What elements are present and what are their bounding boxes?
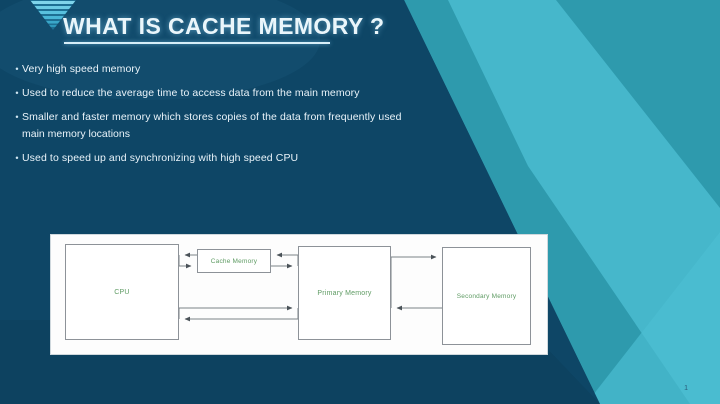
diagram-node-cache-memory: Cache Memory bbox=[197, 249, 271, 273]
slide-title: WHAT IS CACHE MEMORY ? bbox=[63, 13, 384, 40]
bullet-marker-icon: • bbox=[12, 110, 22, 125]
list-item: • Smaller and faster memory which stores… bbox=[12, 110, 512, 125]
presentation-slide: WHAT IS CACHE MEMORY ? • Very high speed… bbox=[0, 0, 720, 404]
bullet-text: Very high speed memory bbox=[22, 62, 140, 77]
bullet-list: • Very high speed memory • Used to reduc… bbox=[12, 62, 512, 175]
bullet-marker-icon: • bbox=[12, 86, 22, 101]
bullet-text: Used to reduce the average time to acces… bbox=[22, 86, 360, 101]
bullet-marker-icon: • bbox=[12, 62, 22, 77]
bullet-marker-icon: • bbox=[12, 151, 22, 166]
node-label: Cache Memory bbox=[211, 258, 257, 265]
list-item: • Used to speed up and synchronizing wit… bbox=[12, 151, 512, 166]
list-item: • Very high speed memory bbox=[12, 62, 512, 77]
node-label: Secondary Memory bbox=[457, 293, 517, 300]
bullet-text: Smaller and faster memory which stores c… bbox=[22, 110, 402, 125]
diagram-node-secondary-memory: Secondary Memory bbox=[442, 247, 531, 345]
bullet-text-continuation: main memory locations bbox=[22, 127, 512, 142]
list-item: • Used to reduce the average time to acc… bbox=[12, 86, 512, 101]
bullet-text: Used to speed up and synchronizing with … bbox=[22, 151, 298, 166]
page-number: 1 bbox=[684, 385, 688, 392]
diagram-node-primary-memory: Primary Memory bbox=[298, 246, 391, 340]
diagram-node-cpu: CPU bbox=[65, 244, 179, 340]
node-label: Primary Memory bbox=[317, 290, 371, 297]
cache-memory-hierarchy-diagram: CPU Cache Memory Primary Memory Secondar… bbox=[50, 234, 548, 355]
node-label: CPU bbox=[114, 289, 129, 296]
title-underline bbox=[64, 42, 330, 44]
